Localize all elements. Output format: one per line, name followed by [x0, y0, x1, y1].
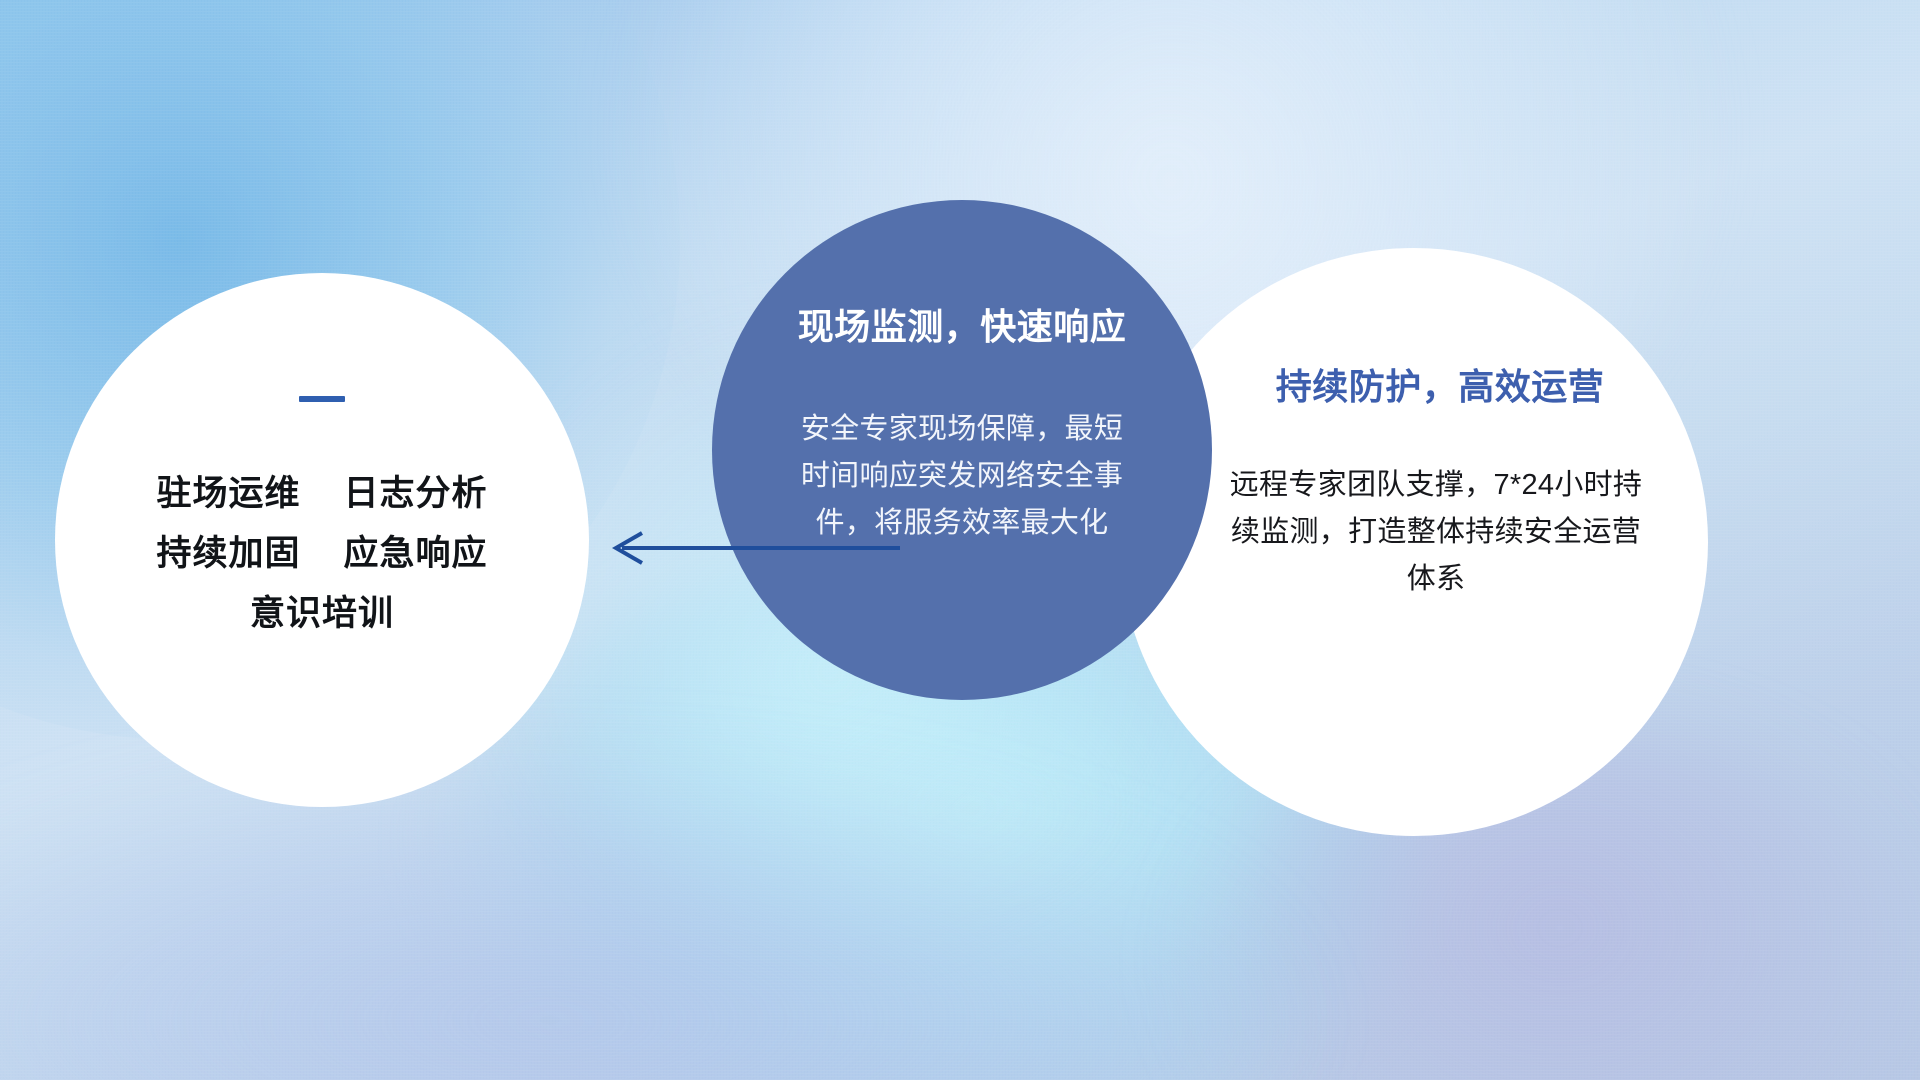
left-circle-text-block: 驻场运维 日志分析 持续加固 应急响应 意识培训 — [157, 464, 488, 645]
capability-row-3: 意识培训 — [157, 584, 488, 644]
right-circle-body: 远程专家团队支撑，7*24小时持续监测，打造整体持续安全运营体系 — [1182, 462, 1646, 603]
slide-canvas: 驻场运维 日志分析 持续加固 应急响应 意识培训 持续防护，高效运营 远程专家团… — [0, 0, 1920, 1080]
right-service-circle: 持续防护，高效运营 远程专家团队支撑，7*24小时持续监测，打造整体持续安全运营… — [1120, 248, 1708, 836]
right-circle-title: 持续防护，高效运营 — [1224, 358, 1605, 410]
divider-dash-icon — [299, 396, 345, 402]
center-service-circle: 现场监测，快速响应 安全专家现场保障，最短时间响应突发网络安全事件，将服务效率最… — [712, 200, 1212, 700]
flow-arrow-left-icon — [600, 520, 900, 576]
capability-row-1: 驻场运维 日志分析 — [157, 464, 488, 524]
left-capability-circle: 驻场运维 日志分析 持续加固 应急响应 意识培训 — [55, 273, 589, 807]
center-circle-title: 现场监测，快速响应 — [798, 298, 1127, 350]
capability-row-2: 持续加固 应急响应 — [157, 524, 488, 584]
